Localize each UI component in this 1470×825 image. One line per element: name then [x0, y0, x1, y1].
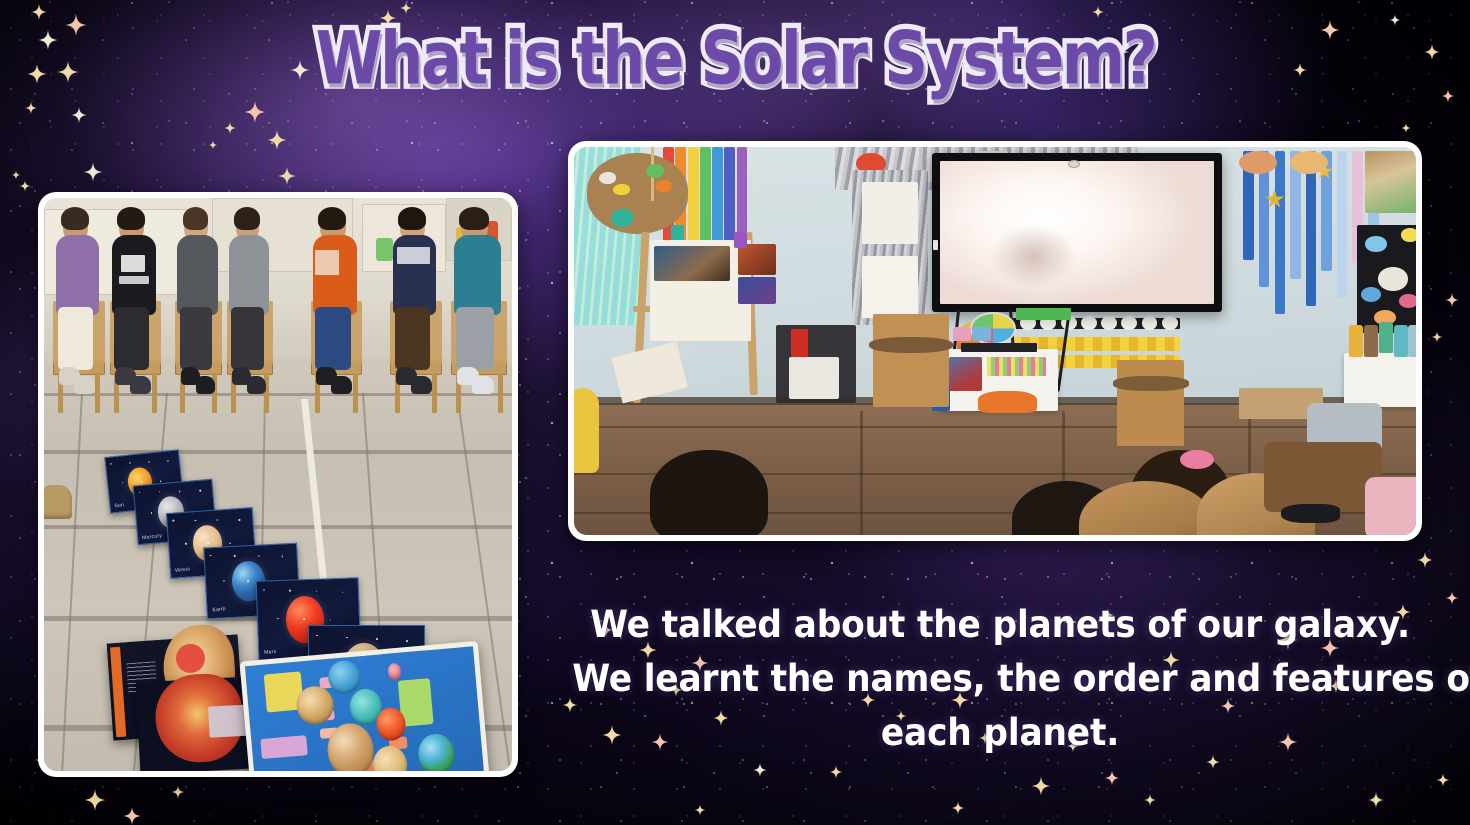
water-bottle — [1379, 322, 1393, 353]
child-shoe — [411, 376, 432, 394]
number-clip-card — [1162, 316, 1178, 330]
book-caption-box — [207, 705, 248, 738]
floor-grout-line — [860, 411, 863, 535]
whiteboard-shadow — [990, 224, 1077, 288]
easel-photo — [738, 244, 776, 275]
wooden-chair — [873, 314, 949, 407]
fruit-basket — [978, 391, 1037, 412]
desk-sticker-sheet — [987, 357, 1046, 376]
number-clip-card — [1142, 316, 1158, 330]
child-legs — [58, 307, 93, 370]
water-bottle — [1364, 325, 1378, 356]
title-container: What is the Solar System? — [0, 20, 1470, 85]
child-dark-hair — [650, 450, 768, 535]
palette-paint-blob — [655, 180, 672, 192]
easel-photo — [738, 277, 776, 304]
child-shoe — [331, 376, 352, 394]
water-bottle — [1408, 325, 1416, 356]
planet-puzzle-board — [240, 641, 490, 771]
artwork-element — [1365, 236, 1386, 252]
teal-clothespin — [671, 225, 684, 241]
whiteboard-side-button — [933, 240, 938, 250]
keyboard — [961, 343, 1037, 352]
child-hair — [318, 207, 346, 230]
cart-white-bin — [789, 357, 840, 400]
green-shelf-holder — [1016, 308, 1071, 320]
child-shoe — [472, 376, 494, 394]
planet-card-label: Earth — [212, 606, 226, 613]
child-shoe — [247, 376, 266, 394]
photo-left-image: SunMercuryVenusEarthMarsJupiter — [44, 198, 512, 771]
artwork-element — [1399, 294, 1416, 308]
floor-tile-line — [44, 525, 512, 529]
award-trophy-photo — [949, 357, 983, 392]
teacher-chair — [1117, 360, 1184, 445]
palette-paint-blob — [613, 184, 630, 196]
caption-line-3: each planet. — [572, 706, 1428, 760]
worksheet-card — [862, 182, 918, 244]
child-legs — [395, 307, 430, 370]
palette-paint-blob — [599, 172, 616, 184]
child-hair — [459, 207, 489, 230]
caption-text: We talked about the planets of our galax… — [572, 598, 1428, 760]
child-legs — [114, 307, 149, 370]
paper-decoration — [1239, 151, 1277, 174]
child-shoe — [74, 376, 95, 394]
puzzle-piece-mercury — [387, 662, 402, 680]
child-torso — [313, 235, 357, 315]
photo-right-frame — [568, 141, 1422, 541]
shelf-toy — [376, 238, 392, 261]
planet-card-label: Venus — [175, 567, 191, 575]
jersey-number — [315, 250, 338, 276]
child-shoe — [1281, 504, 1340, 523]
planet-card-label: Mercury — [142, 532, 163, 540]
white-side-table — [1344, 353, 1416, 407]
planet-card-label: Mars — [264, 648, 277, 655]
child-torso — [229, 235, 269, 315]
ribbon-streamer — [1275, 151, 1286, 314]
water-bottle — [1349, 325, 1363, 356]
photo-right-image — [574, 147, 1416, 535]
child-hair — [183, 207, 209, 230]
puzzle-piece-earth — [416, 732, 456, 771]
number-clip-card — [1081, 316, 1097, 330]
ribbon-streamer — [1337, 151, 1348, 298]
floor-grout-line — [574, 426, 1416, 428]
number-clip-card — [1101, 316, 1117, 330]
hoodie-logo — [121, 255, 144, 272]
artwork-element — [1378, 267, 1407, 290]
planet-card-label: Sun — [114, 502, 125, 509]
water-bottle — [1394, 325, 1408, 356]
fire-extinguisher — [791, 329, 808, 356]
chair-leg — [432, 373, 437, 413]
blue-cube-toy — [972, 327, 991, 341]
chair-leg — [353, 373, 358, 413]
easel-photo — [654, 246, 730, 281]
chair-leg — [264, 373, 269, 413]
chair-leg — [95, 373, 100, 413]
artwork-element — [1401, 228, 1416, 242]
child-legs — [180, 307, 213, 370]
wooden-chair-seat — [869, 337, 953, 353]
chair-leg — [498, 373, 503, 413]
chair-leg — [152, 373, 157, 413]
pink-hair-bow — [1180, 450, 1214, 469]
child-shoe — [196, 376, 215, 394]
floor-basket — [44, 485, 72, 519]
child-hair — [398, 207, 426, 230]
puzzle-info-tag — [261, 735, 308, 759]
photo-left-frame: SunMercuryVenusEarthMarsJupiter — [38, 192, 518, 777]
paint-palette-cutout — [587, 153, 688, 234]
slide-root: What is the Solar System? SunMercuryVenu… — [0, 0, 1470, 825]
hoodie-text — [119, 276, 149, 284]
child-hair — [234, 207, 260, 230]
classroom-artwork-poster — [1365, 151, 1416, 213]
puzzle-piece-uranus — [327, 658, 362, 694]
child-torso — [56, 235, 100, 315]
child-legs — [231, 307, 264, 370]
child-torso — [454, 235, 501, 315]
ribbon-streamer — [1306, 151, 1317, 306]
interactive-whiteboard — [932, 153, 1222, 312]
palette-paint-blob — [646, 164, 665, 178]
page-title: What is the Solar System? — [315, 20, 1155, 97]
floor-tile-line — [44, 450, 512, 454]
child-pink-sleeve — [1365, 477, 1416, 535]
child-yellow-sweater — [574, 388, 599, 473]
whiteboard-sensor — [1068, 160, 1080, 168]
paper-decoration — [1290, 151, 1328, 174]
number-clip-card — [1121, 316, 1137, 330]
caption-line-1: We talked about the planets of our galax… — [572, 598, 1428, 652]
caption-line-2: We learnt the names, the order and featu… — [572, 652, 1428, 706]
purple-clothespin — [734, 232, 747, 248]
child-legs — [315, 307, 350, 370]
child-hair — [117, 207, 145, 230]
palette-paint-blob — [611, 209, 633, 226]
teacher-chair-seat — [1113, 376, 1189, 392]
whiteboard-screen — [940, 161, 1214, 304]
child-hair — [61, 207, 89, 230]
pink-cube-toy — [953, 327, 972, 341]
child-shoe — [130, 376, 151, 394]
sweater-print — [397, 247, 430, 264]
child-legs — [456, 307, 494, 370]
worksheet-card — [862, 256, 918, 318]
child-torso — [177, 235, 217, 315]
